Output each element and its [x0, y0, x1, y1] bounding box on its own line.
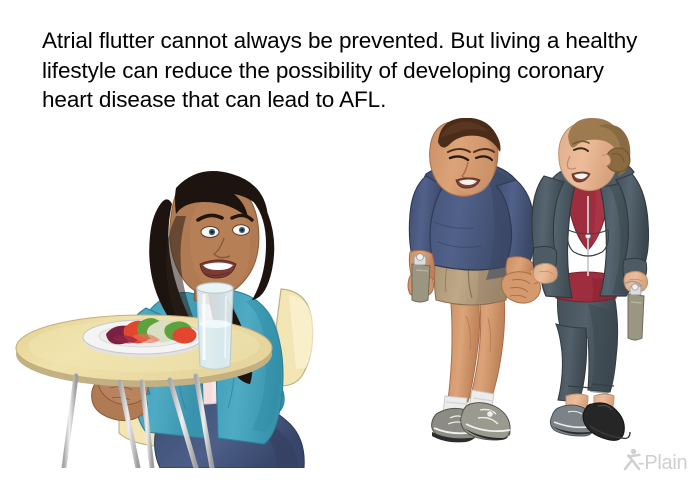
water-glass	[197, 283, 233, 369]
left-hand	[533, 263, 557, 283]
illustration-woman-eating-salad	[0, 148, 340, 468]
walking-woman	[532, 118, 649, 440]
illustration-page: Atrial flutter cannot always be prevente…	[0, 0, 700, 480]
walking-man	[408, 118, 541, 442]
logo-text: -Plain	[638, 452, 687, 474]
pants-left-leg	[556, 324, 587, 402]
xplain-logo: -Plain	[622, 448, 692, 474]
illustration-couple-walking	[392, 118, 664, 448]
page-caption: Atrial flutter cannot always be prevente…	[42, 26, 642, 115]
